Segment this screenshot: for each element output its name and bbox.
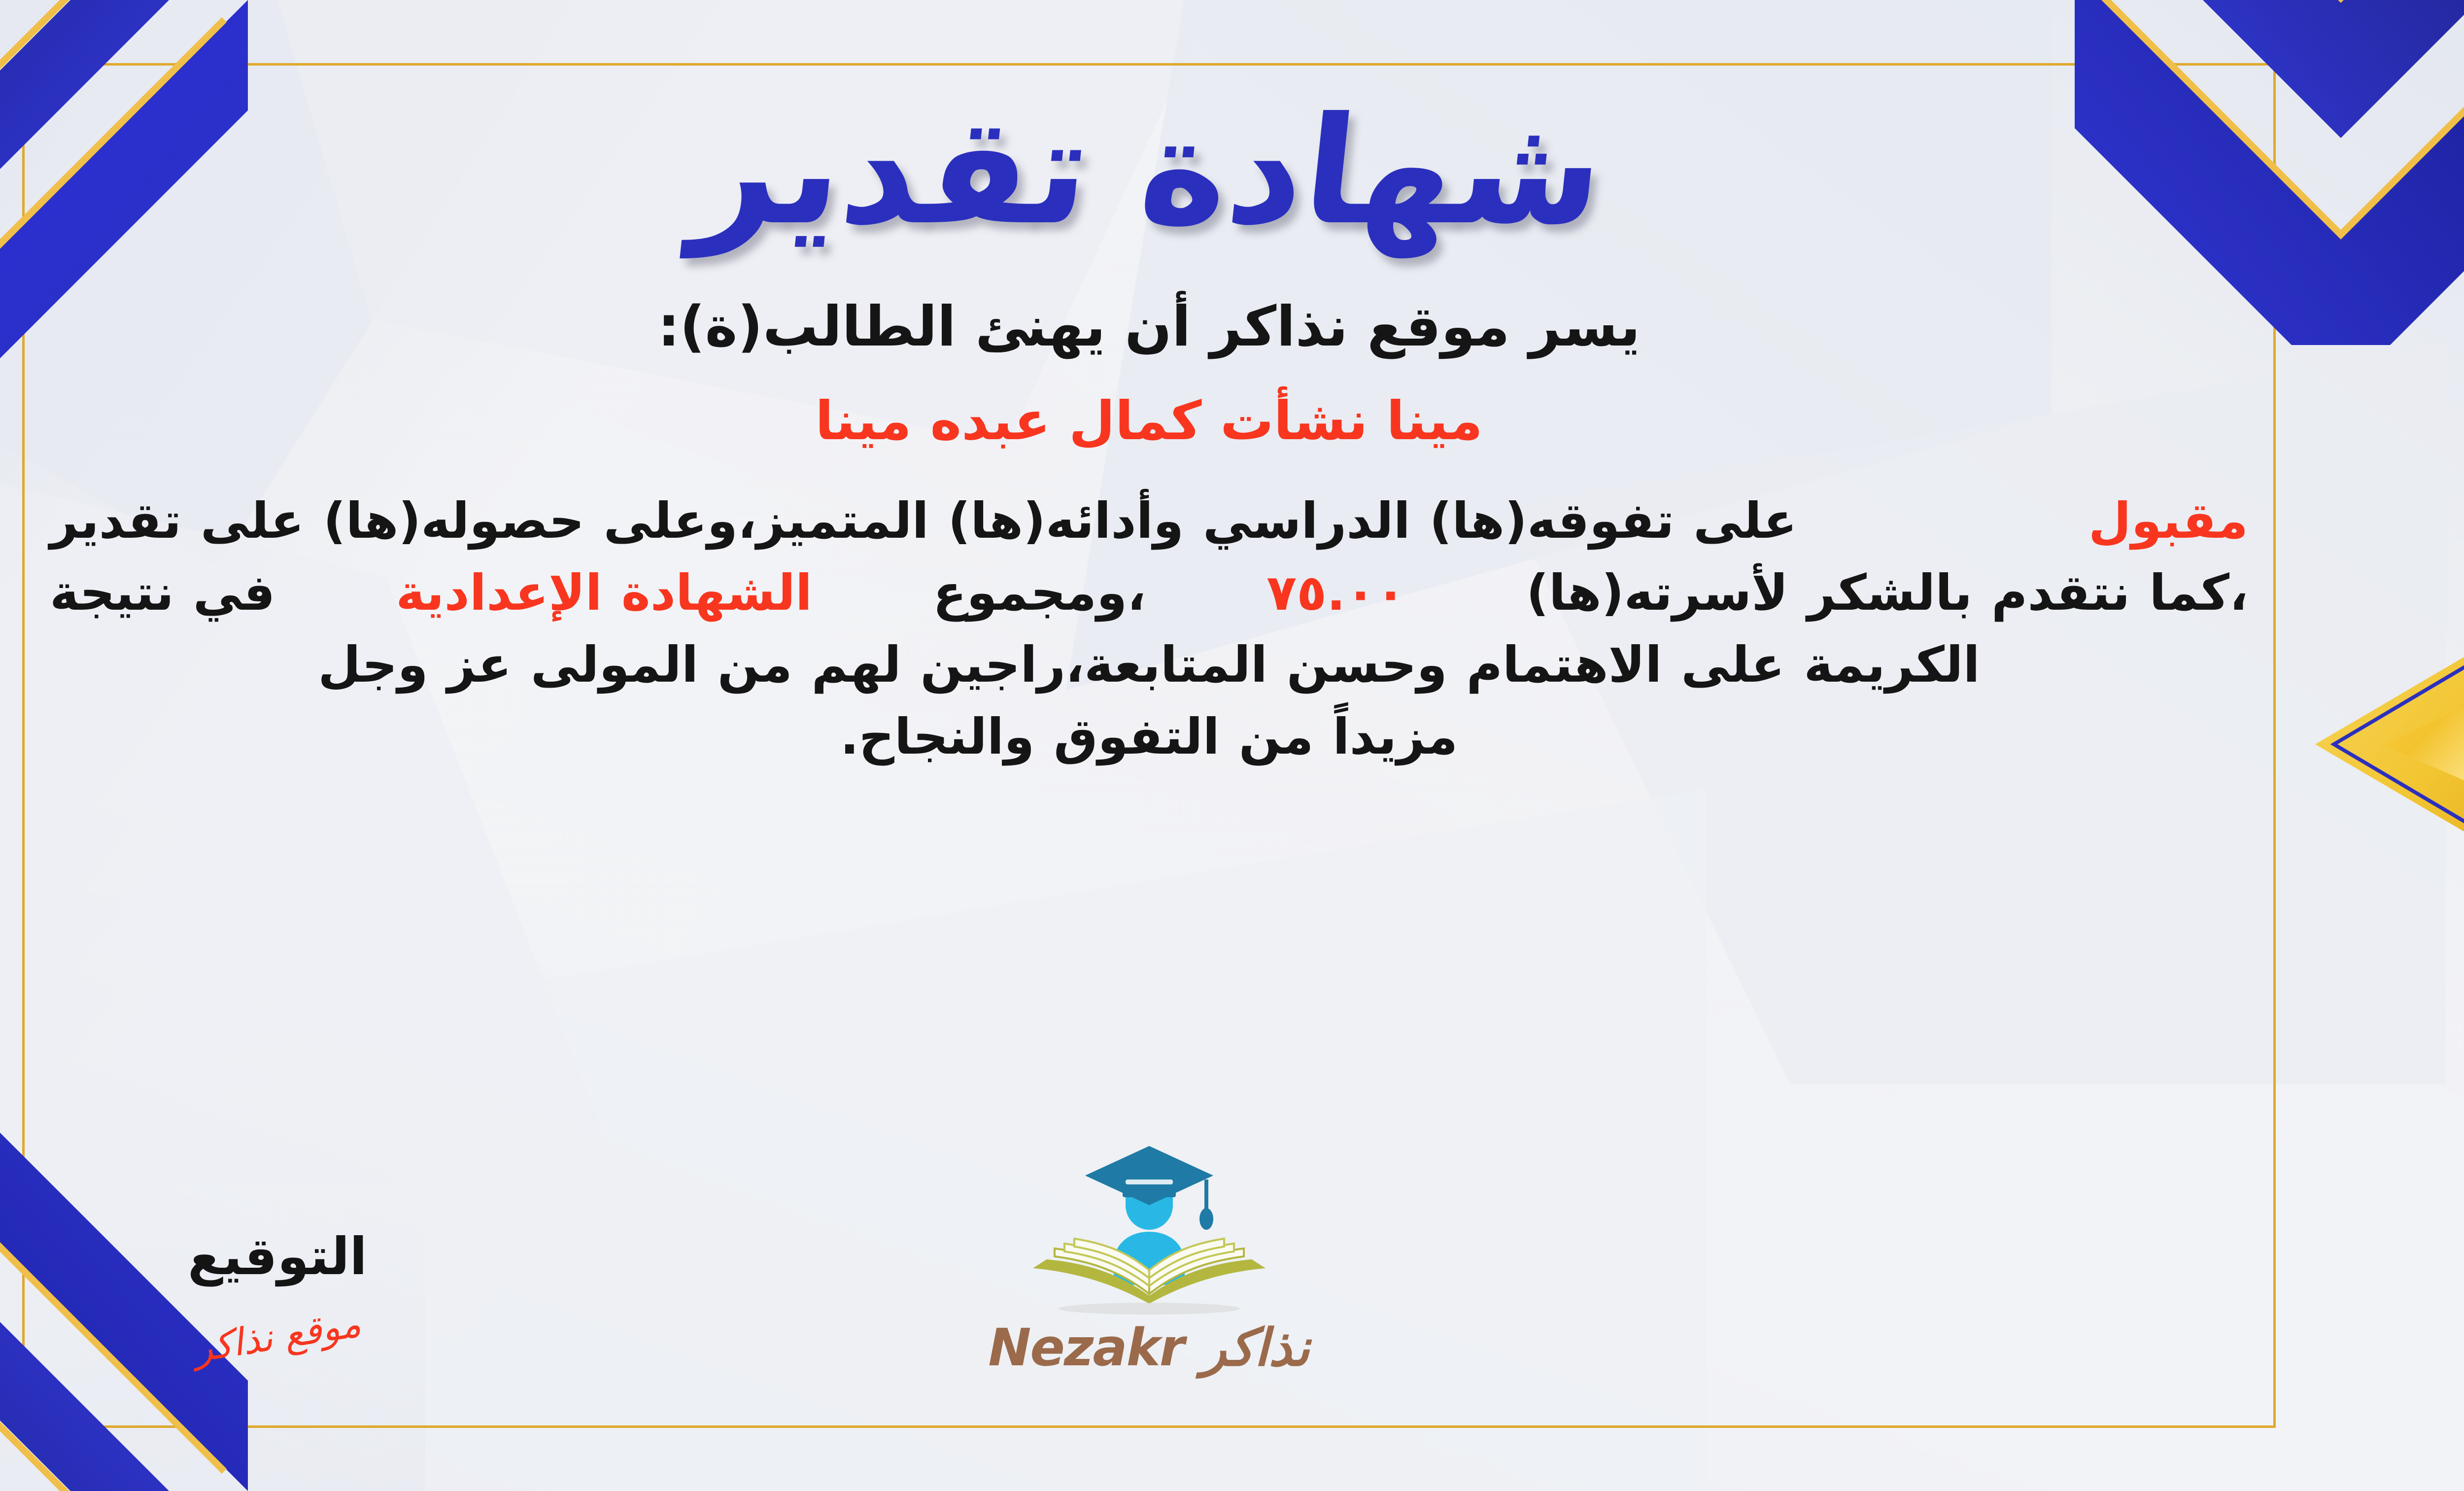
paragraph-line-1-text: على تفوقه(ها) الدراسي وأدائه(ها) المتميز… — [50, 485, 1797, 557]
certificate-page: شهادة تقدير يسر موقع نذاكر أن يهنئ الطال… — [0, 0, 2464, 1491]
intro-line: يسر موقع نذاكر أن يهنئ الطالب(ة): — [41, 292, 2257, 361]
thanks-phrase: ،كما نتقدم بالشكر لأسرته(ها) — [1526, 557, 2248, 629]
student-name: مينا نشأت كمال عبده مينا — [41, 388, 2257, 454]
total-score-value: ٧٥.٠٠ — [1266, 557, 1405, 629]
page-title: شهادة تقدير — [33, 94, 2265, 249]
paragraph-line-2: ،كما نتقدم بالشكر لأسرته(ها) ٧٥.٠٠ ،ومجم… — [50, 557, 2248, 629]
exam-name: الشهادة الإعدادية — [396, 557, 812, 629]
certificate-footer: التوقيع موقع نذاكر — [41, 1077, 2257, 1392]
brand-wordmark: نذاكر Nezakr — [962, 1318, 1336, 1378]
brand-logo-block: نذاكر Nezakr — [962, 1128, 1336, 1378]
grade-value: مقبول — [2088, 485, 2248, 557]
paragraph-line-1: مقبول على تفوقه(ها) الدراسي وأدائه(ها) ا… — [50, 485, 2248, 557]
certificate-body: يسر موقع نذاكر أن يهنئ الطالب(ة): مينا ن… — [41, 292, 2257, 773]
graduate-book-icon — [1011, 1128, 1287, 1320]
signature-mark: موقع نذاكر — [191, 1301, 364, 1371]
paragraph-line-3: الكريمة على الاهتمام وحسن المتابعة،راجين… — [50, 629, 2248, 701]
certificate-content: شهادة تقدير يسر موقع نذاكر أن يهنئ الطال… — [41, 79, 2257, 1412]
signature-block: التوقيع موقع نذاكر — [125, 1226, 430, 1358]
signature-label: التوقيع — [125, 1226, 430, 1286]
total-label-text: ،ومجموع — [933, 557, 1146, 629]
title-block: شهادة تقدير — [41, 94, 2257, 249]
paragraph-line-4: مزيداً من التفوق والنجاح. — [50, 701, 2248, 773]
appreciation-paragraph: مقبول على تفوقه(ها) الدراسي وأدائه(ها) ا… — [41, 485, 2257, 773]
result-prefix: في نتيجة — [50, 557, 275, 629]
